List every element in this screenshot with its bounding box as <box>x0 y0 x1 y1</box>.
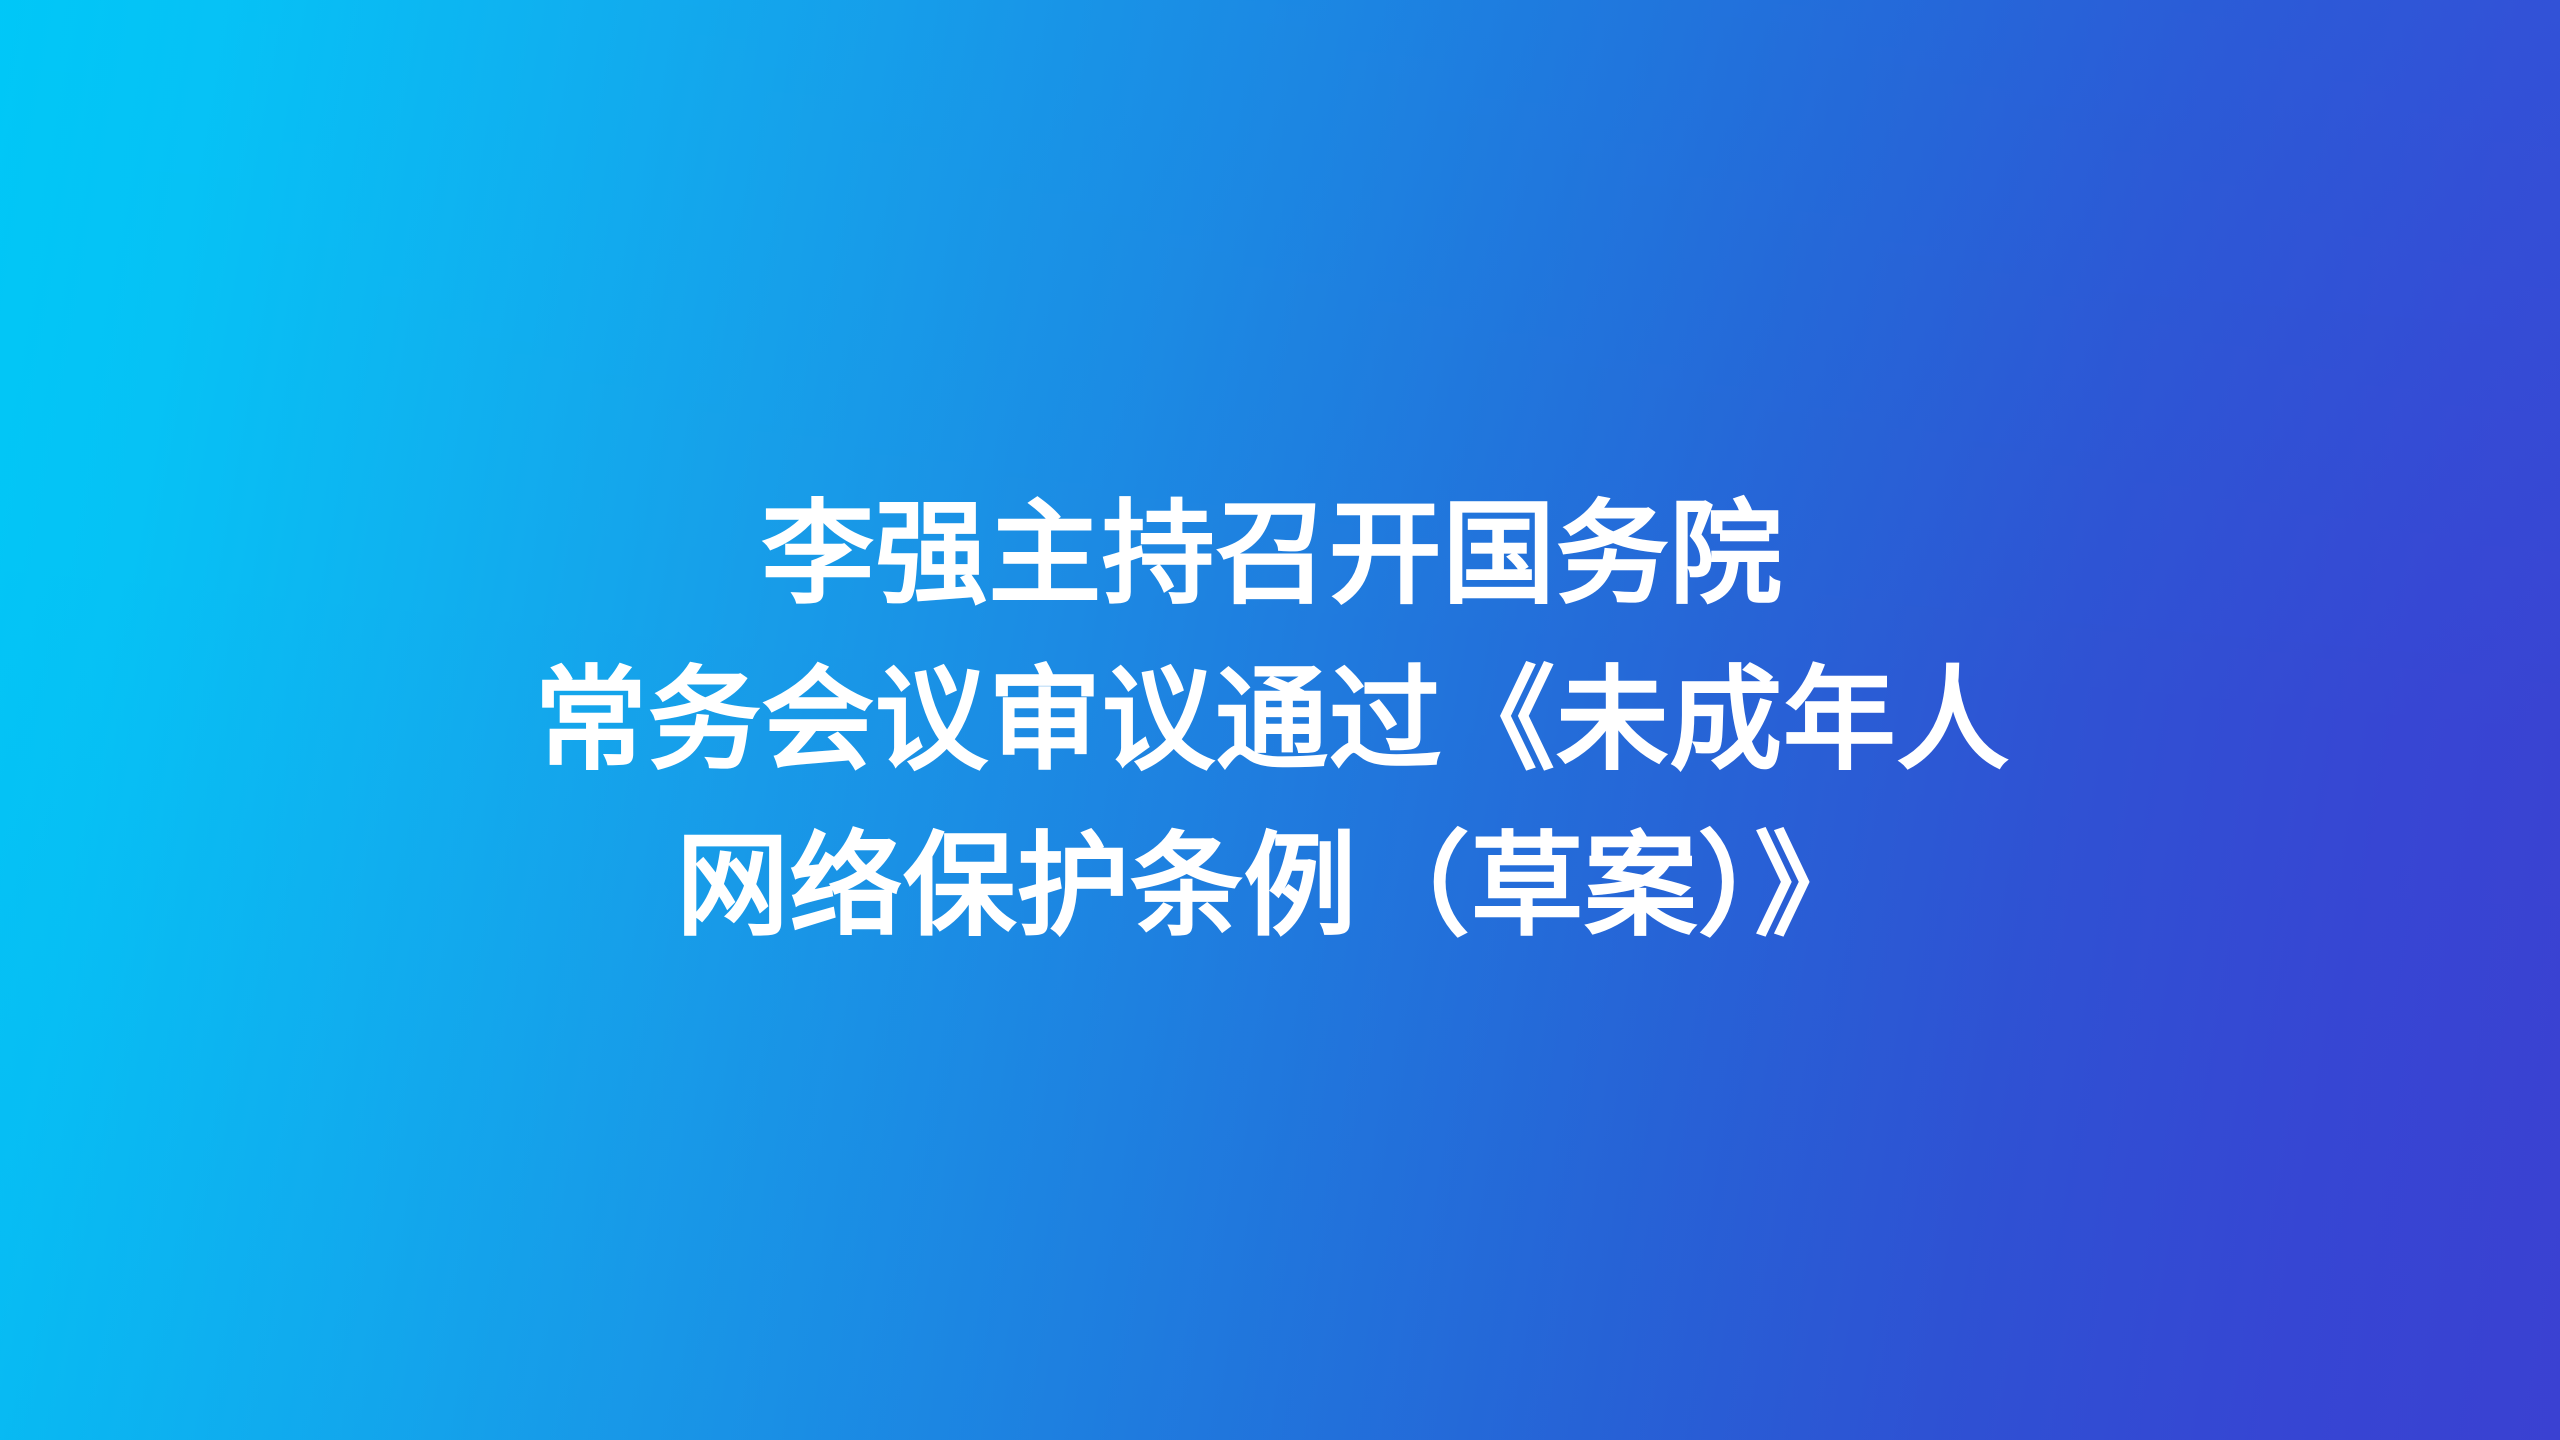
headline-line-2: 常务会议审议通过《未成年人 <box>512 637 2032 803</box>
news-headline-card: 李强主持召开国务院 常务会议审议通过《未成年人 网络保护条例（草案）》 <box>0 0 2560 1440</box>
headline-line-1: 李强主持召开国务院 <box>512 471 2032 637</box>
headline-line-3: 网络保护条例（草案）》 <box>512 803 2032 969</box>
headline-text-block: 李强主持召开国务院 常务会议审议通过《未成年人 网络保护条例（草案）》 <box>512 471 2032 969</box>
